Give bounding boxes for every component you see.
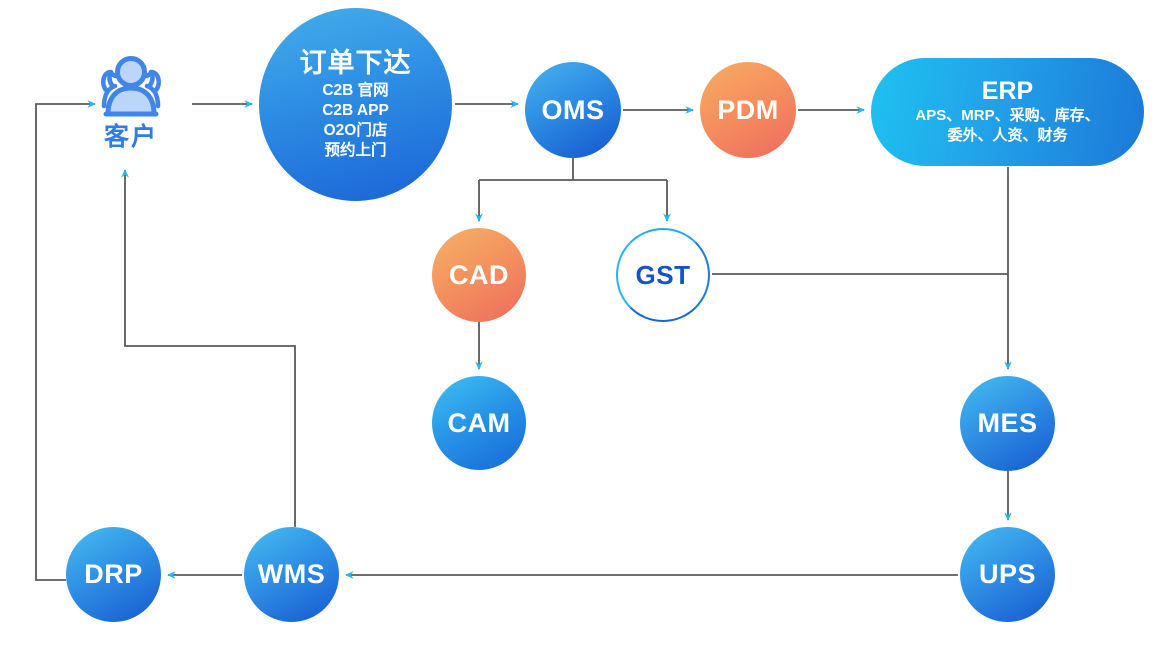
order-channel-item: C2B APP bbox=[322, 101, 389, 121]
erp-title: ERP bbox=[982, 78, 1033, 104]
node-drp[interactable]: DRP bbox=[66, 527, 161, 622]
mes-label: MES bbox=[977, 410, 1037, 437]
pdm-label: PDM bbox=[717, 97, 779, 124]
diagram-canvas: 客户 订单下达 C2B 官网 C2B APP O2O门店 预约上门 OMS PD… bbox=[0, 0, 1172, 654]
wms-label: WMS bbox=[258, 561, 325, 588]
edge-wms-to-customer bbox=[125, 170, 295, 527]
customer-label: 客户 bbox=[104, 125, 158, 150]
node-order-placement[interactable]: 订单下达 C2B 官网 C2B APP O2O门店 预约上门 bbox=[259, 8, 452, 201]
erp-module-line: APS、MRP、采购、库存、 bbox=[915, 106, 1099, 126]
order-title: 订单下达 bbox=[300, 49, 412, 77]
node-oms[interactable]: OMS bbox=[525, 62, 621, 158]
erp-module-line: 委外、人资、财务 bbox=[915, 126, 1099, 146]
ups-label: UPS bbox=[979, 561, 1036, 588]
node-ups[interactable]: UPS bbox=[960, 527, 1055, 622]
node-cad[interactable]: CAD bbox=[432, 228, 526, 322]
node-erp[interactable]: ERP APS、MRP、采购、库存、 委外、人资、财务 bbox=[871, 58, 1144, 166]
order-channel-item: 预约上门 bbox=[322, 141, 389, 161]
gst-label: GST bbox=[636, 262, 691, 288]
node-wms[interactable]: WMS bbox=[244, 527, 339, 622]
node-gst[interactable]: GST bbox=[616, 228, 710, 322]
oms-label: OMS bbox=[541, 97, 604, 124]
order-channel-item: C2B 官网 bbox=[322, 81, 389, 101]
node-customer[interactable]: 客户 bbox=[72, 48, 190, 156]
node-mes[interactable]: MES bbox=[960, 376, 1055, 471]
drp-label: DRP bbox=[84, 561, 143, 588]
cam-label: CAM bbox=[448, 410, 511, 437]
people-group-icon bbox=[93, 54, 169, 122]
edge-drp-to-customer bbox=[36, 104, 95, 580]
node-pdm[interactable]: PDM bbox=[700, 62, 796, 158]
cad-label: CAD bbox=[449, 262, 509, 289]
order-channel-item: O2O门店 bbox=[322, 121, 389, 141]
node-cam[interactable]: CAM bbox=[432, 376, 526, 470]
